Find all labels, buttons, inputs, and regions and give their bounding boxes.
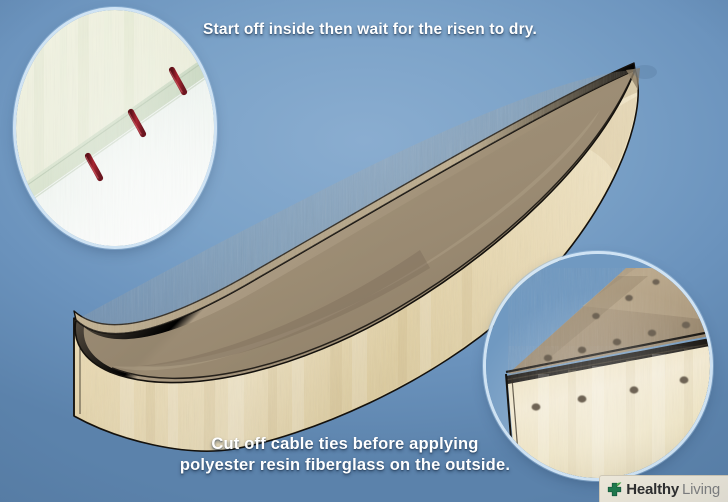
inset-cable-ties-closeup — [16, 10, 214, 246]
illustration-canvas: Start off inside then wait for the risen… — [0, 0, 728, 502]
logo-text-healthy: Healthy — [626, 481, 679, 498]
logo-text-living: Living — [682, 481, 720, 498]
caption-top: Start off inside then wait for the risen… — [100, 20, 640, 39]
green-plus-cross-icon — [606, 481, 623, 498]
caption-bottom: Cut off cable ties before applying polye… — [105, 434, 585, 475]
healthy-living-logo[interactable]: Healthy Living — [599, 475, 728, 502]
